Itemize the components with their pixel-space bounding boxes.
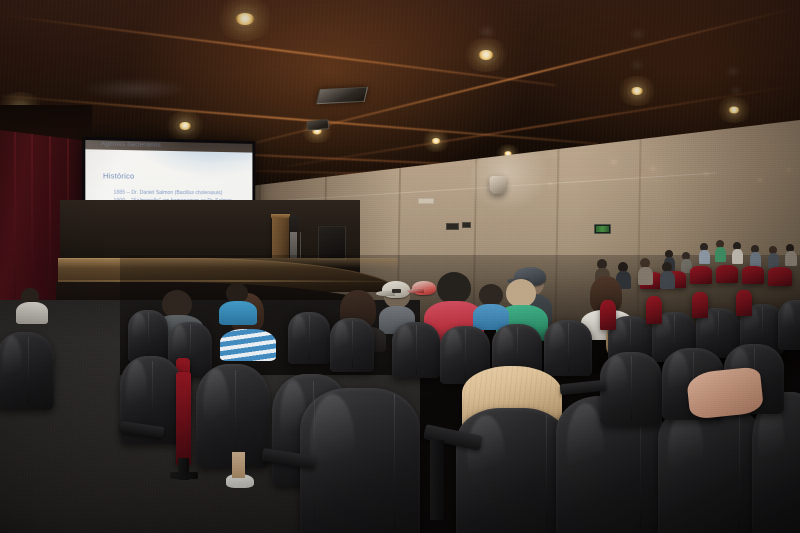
ceiling-projector: [307, 119, 330, 131]
slide-title-cutoff: Agentes bacterianos: [101, 141, 161, 148]
seat-support-leg: [170, 472, 198, 479]
audience-person-aisle: [18, 288, 44, 322]
seat-red-end-panel: [736, 290, 752, 316]
auditorium-seat-foreground: [658, 404, 762, 533]
wall-mounted-speaker: [490, 176, 507, 194]
auditorium-seat: [330, 318, 374, 372]
auditorium-seat-foreground: [300, 388, 420, 533]
ceiling-downlight: [228, 7, 262, 31]
auditorium-seat: [288, 312, 330, 364]
auditorium-seat-foreground: [456, 408, 568, 533]
auditorium-seat: [600, 352, 662, 426]
seat-support-leg: [430, 440, 444, 520]
audience-person: [786, 244, 797, 266]
ceiling-reflection: [478, 25, 496, 38]
ceiling-downlight: [723, 102, 745, 117]
seat-red-back: [690, 266, 712, 284]
curtain-fold: [14, 130, 16, 315]
exit-sign: [594, 224, 611, 234]
seat-red-back: [716, 265, 738, 283]
seat-red-back: [742, 266, 764, 284]
wall-control-plate: [446, 223, 459, 230]
auditorium-seat: [128, 310, 168, 362]
seat-red-end-panel: [176, 372, 191, 466]
auditorium-seat: [544, 320, 592, 376]
presenter-speaking: [288, 210, 299, 258]
auditorium-seat-foreground: [0, 332, 54, 410]
audience-person: [733, 242, 744, 264]
seat-red-back: [768, 267, 792, 286]
wall-sign-plate: [418, 198, 434, 204]
presenter-torso: [289, 215, 299, 233]
seat-red-end-panel: [692, 292, 708, 318]
exit-sign-lamp: [596, 226, 609, 232]
audience-person: [751, 245, 762, 267]
wooden-podium: [272, 216, 289, 258]
ceiling-reflection: [630, 60, 644, 70]
audience-person-blue-shirt: [476, 284, 506, 328]
red-baseball-cap: [412, 281, 436, 295]
audience-person-back-blue: [222, 283, 254, 323]
auditorium-seat: [392, 322, 440, 378]
auditorium-seat: [778, 300, 800, 350]
cap-logo-patch: [392, 289, 401, 293]
auditorium-photo: Seated audience viewing a slide presenta…: [0, 0, 800, 533]
slide-bullet: 1885 – Dr. Daniel Salmon (Bacillus chole…: [113, 189, 247, 198]
ceiling-downlight: [173, 117, 197, 134]
seat-red-end-panel: [600, 300, 616, 330]
seat-red-end-panel: [646, 296, 662, 324]
wall-control-plate: [462, 222, 471, 228]
ceiling-reflection: [726, 66, 740, 77]
ceiling-downlight: [427, 134, 445, 147]
audience-person: [716, 240, 727, 262]
curtain-fold: [49, 130, 51, 315]
ceiling-downlight: [625, 82, 649, 99]
ceiling-reflection: [80, 78, 190, 100]
audience-person: [640, 258, 653, 284]
audience-person: [769, 246, 780, 268]
audience-leg: [232, 452, 245, 478]
ceiling-reflection: [730, 86, 742, 95]
ceiling-vent-grille: [316, 87, 368, 104]
audience-person: [700, 243, 711, 263]
audience-person: [662, 262, 675, 288]
ceiling-reflection: [630, 28, 646, 40]
ceiling-downlight: [472, 45, 500, 65]
slide-heading: Histórico: [103, 171, 134, 181]
